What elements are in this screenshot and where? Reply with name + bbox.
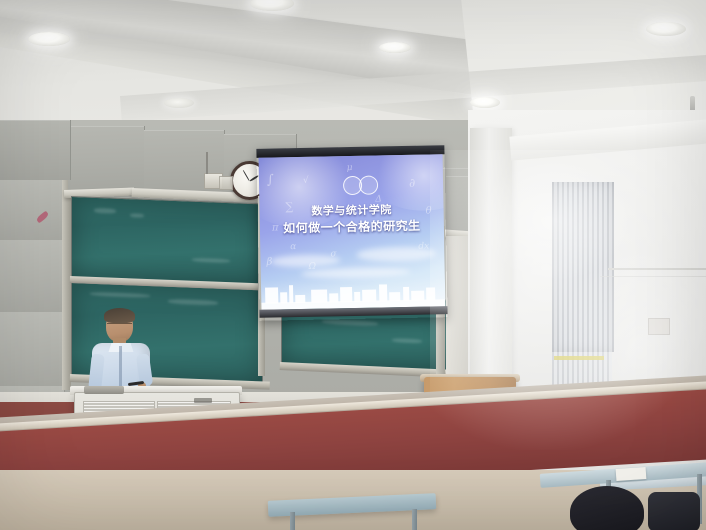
slide-subheading: 如何做一个合格的研究生	[260, 216, 444, 237]
ceiling-downlight	[646, 22, 686, 36]
slide-math-symbol: √	[303, 177, 309, 186]
wall-panel	[0, 178, 65, 241]
projection-screen: ∫ ∑ π √ λ ∂ θ ∞ α β dx μ σ Δ Ω 数学与统计学院 如…	[256, 145, 447, 321]
slide-content: ∫ ∑ π √ λ ∂ θ ∞ α β dx μ σ Δ Ω 数学与统计学院 如…	[259, 154, 446, 310]
slide-math-symbol: μ	[347, 164, 353, 173]
student-head	[570, 486, 644, 530]
ceiling-downlight	[164, 98, 194, 108]
slide-math-symbol: ∫	[267, 173, 274, 186]
wall-panel	[0, 312, 65, 387]
ceiling-downlight	[28, 32, 70, 46]
slide-math-symbol: ∂	[409, 177, 415, 189]
ceiling-downlight	[470, 97, 500, 108]
desk-leg	[412, 509, 417, 530]
presenter-hair	[104, 308, 135, 323]
cabinet-equipment-box	[84, 386, 124, 394]
shelf-rod	[206, 152, 208, 174]
wall-panel	[0, 240, 65, 313]
shelf-object-small	[219, 176, 233, 190]
desk-leg	[290, 512, 295, 530]
slide-skyline	[261, 276, 446, 310]
upper-cabinet-door[interactable]	[0, 120, 71, 180]
upper-cabinet-door[interactable]	[68, 126, 145, 196]
slide-math-symbol: α	[290, 243, 296, 252]
lecture-hall-photo: ∫ ∑ π √ λ ∂ θ ∞ α β dx μ σ Δ Ω 数学与统计学院 如…	[0, 0, 706, 530]
chair	[648, 492, 700, 530]
cabinet-label	[194, 398, 212, 403]
ceiling-downlight	[379, 42, 411, 53]
paper-sheet	[616, 467, 647, 481]
chalkboard-panel	[71, 196, 263, 287]
glasses-icon	[107, 323, 132, 330]
